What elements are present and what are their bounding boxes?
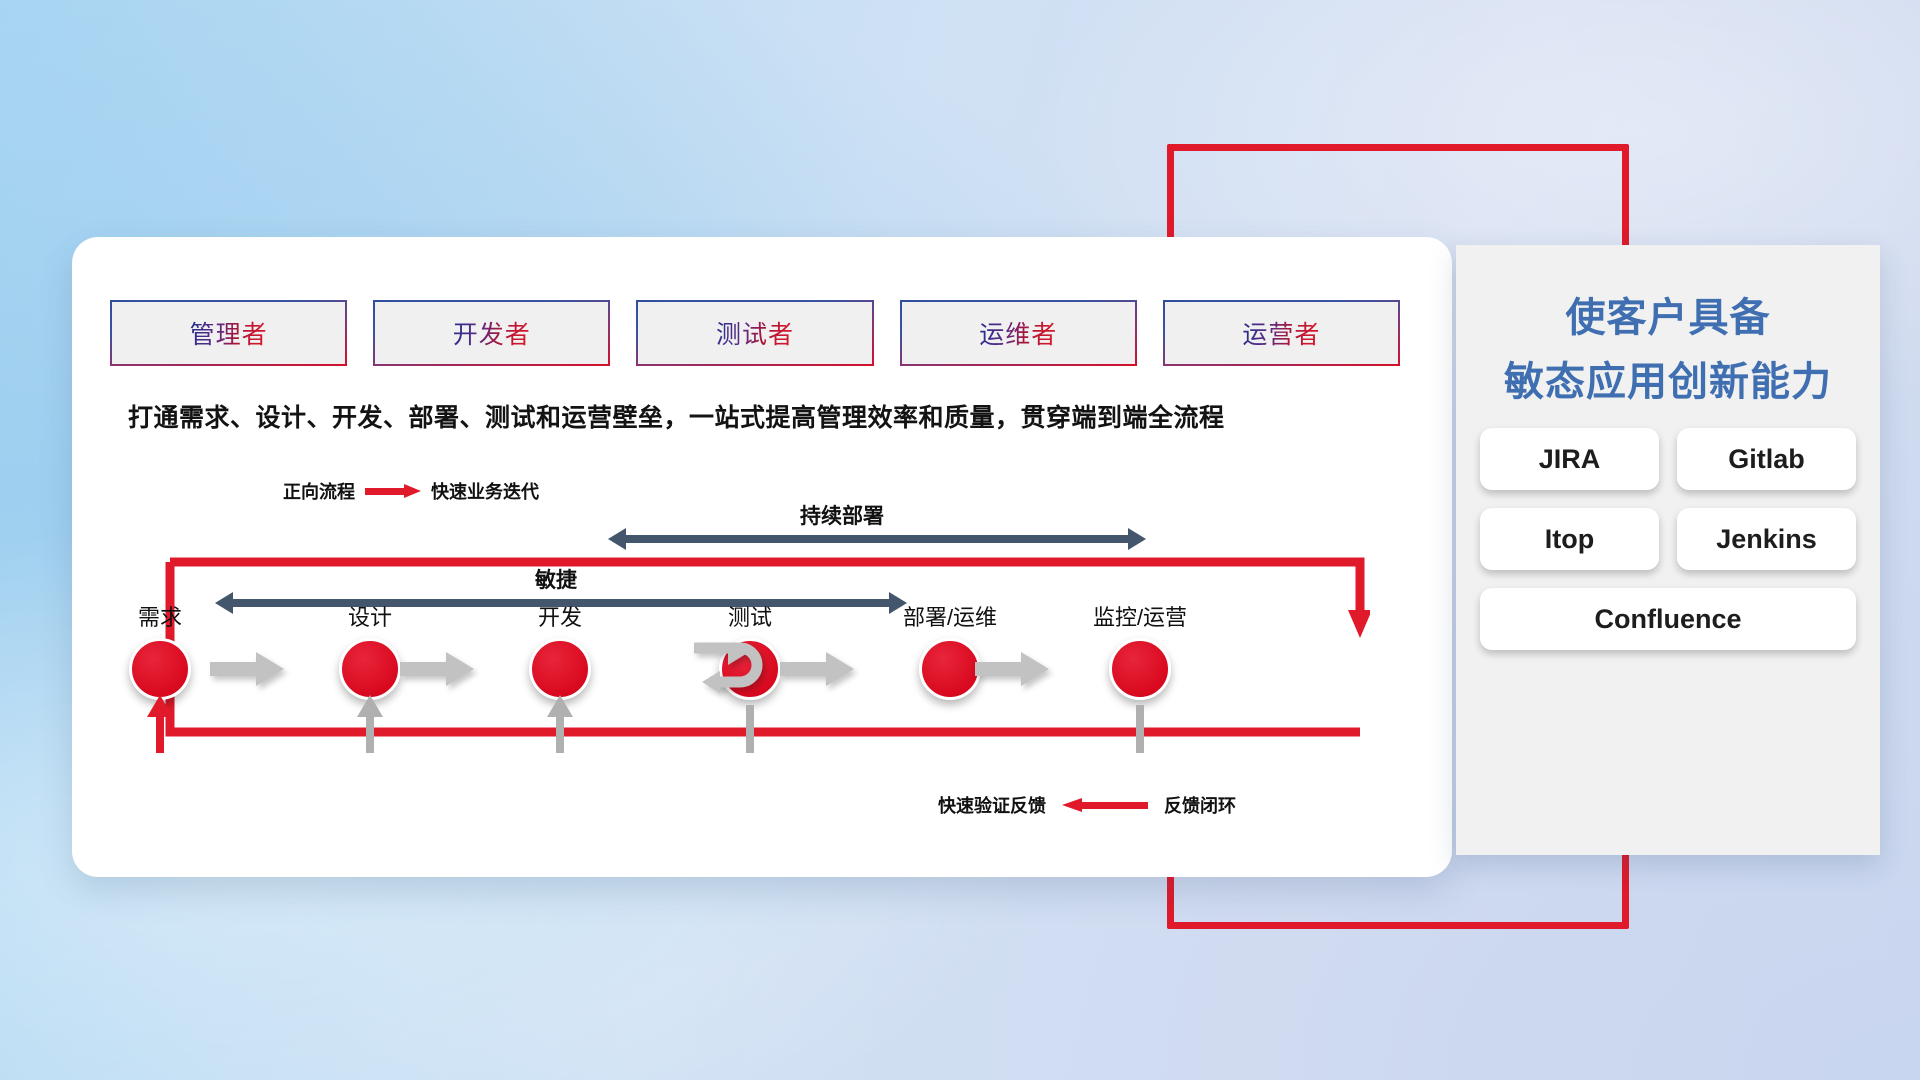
double-arrow-icon-continuous-deployment <box>608 528 1146 550</box>
tool-pill-jenkins[interactable]: Jenkins <box>1677 508 1856 570</box>
stage-dot-icon <box>1109 638 1171 700</box>
up-arrow-icon-testing <box>737 695 763 753</box>
pipeline-stage-development[interactable]: 开发 <box>485 600 635 700</box>
stage-dot-icon <box>339 638 401 700</box>
legend-forward-left-label: 正向流程 <box>283 478 355 504</box>
panel-title-line-1: 使客户具备 <box>1456 285 1880 343</box>
tool-pill-jira[interactable]: JIRA <box>1480 428 1659 490</box>
legend-forward-right-label: 快速业务迭代 <box>431 478 539 504</box>
up-arrow-icon-requirements <box>147 695 173 753</box>
value-panel: 使客户具备 敏态应用创新能力 JIRA Gitlab Itop Jenkins … <box>1456 245 1880 855</box>
stage-label: 监控/运营 <box>1065 600 1215 632</box>
band-label-continuous-deployment: 持续部署 <box>800 500 884 530</box>
role-box-developer[interactable]: 开发者 <box>373 300 610 366</box>
legend-feedback-left-label: 快速验证反馈 <box>938 792 1046 818</box>
legend-feedback-loop: 快速验证反馈 反馈闭环 <box>938 792 1236 818</box>
stage-dot-icon <box>919 638 981 700</box>
role-box-operations[interactable]: 运营者 <box>1163 300 1400 366</box>
tool-pill-itop[interactable]: Itop <box>1480 508 1659 570</box>
devops-pipeline: 需求 设计 开发 测试 部署/运维 监控/运营 <box>110 600 1400 720</box>
role-box-manager[interactable]: 管理者 <box>110 300 347 366</box>
block-arrow-right-icon <box>210 652 284 686</box>
stage-label: 开发 <box>485 600 635 632</box>
block-arrow-right-icon <box>400 652 474 686</box>
description-text: 打通需求、设计、开发、部署、测试和运营壁垒，一站式提高管理效率和质量，贯穿端到端… <box>128 398 1438 434</box>
block-arrow-right-icon <box>975 652 1049 686</box>
tool-pill-gitlab[interactable]: Gitlab <box>1677 428 1856 490</box>
u-turn-loop-arrow-icon <box>688 638 784 700</box>
stage-label: 设计 <box>295 600 445 632</box>
stage-label: 测试 <box>675 600 825 632</box>
up-arrow-icon-design <box>357 695 383 753</box>
right-arrow-icon <box>365 484 421 498</box>
legend-forward-flow: 正向流程 快速业务迭代 <box>283 478 539 504</box>
tool-pill-list: JIRA Gitlab Itop Jenkins Confluence <box>1480 428 1856 650</box>
role-label: 运维者 <box>979 315 1057 351</box>
role-label: 运营者 <box>1242 315 1320 351</box>
panel-title-line-2: 敏态应用创新能力 <box>1456 349 1880 407</box>
up-arrow-icon-monitor <box>1127 695 1153 753</box>
up-arrow-icon-development <box>547 695 573 753</box>
tool-pill-confluence[interactable]: Confluence <box>1480 588 1856 650</box>
stage-dot-icon <box>529 638 591 700</box>
role-label: 测试者 <box>716 315 794 351</box>
legend-feedback-right-label: 反馈闭环 <box>1164 792 1236 818</box>
role-box-ops[interactable]: 运维者 <box>900 300 1137 366</box>
block-arrow-right-icon <box>780 652 854 686</box>
stage-label: 部署/运维 <box>875 600 1025 632</box>
stage-dot-icon <box>129 638 191 700</box>
role-box-row: 管理者 开发者 测试者 运维者 运营者 <box>110 300 1400 366</box>
role-label: 开发者 <box>453 315 531 351</box>
role-label: 管理者 <box>190 315 268 351</box>
stage-label: 需求 <box>85 600 235 632</box>
pipeline-stage-monitor-operations[interactable]: 监控/运营 <box>1065 600 1215 700</box>
role-box-tester[interactable]: 测试者 <box>636 300 873 366</box>
left-arrow-icon <box>1062 798 1148 812</box>
